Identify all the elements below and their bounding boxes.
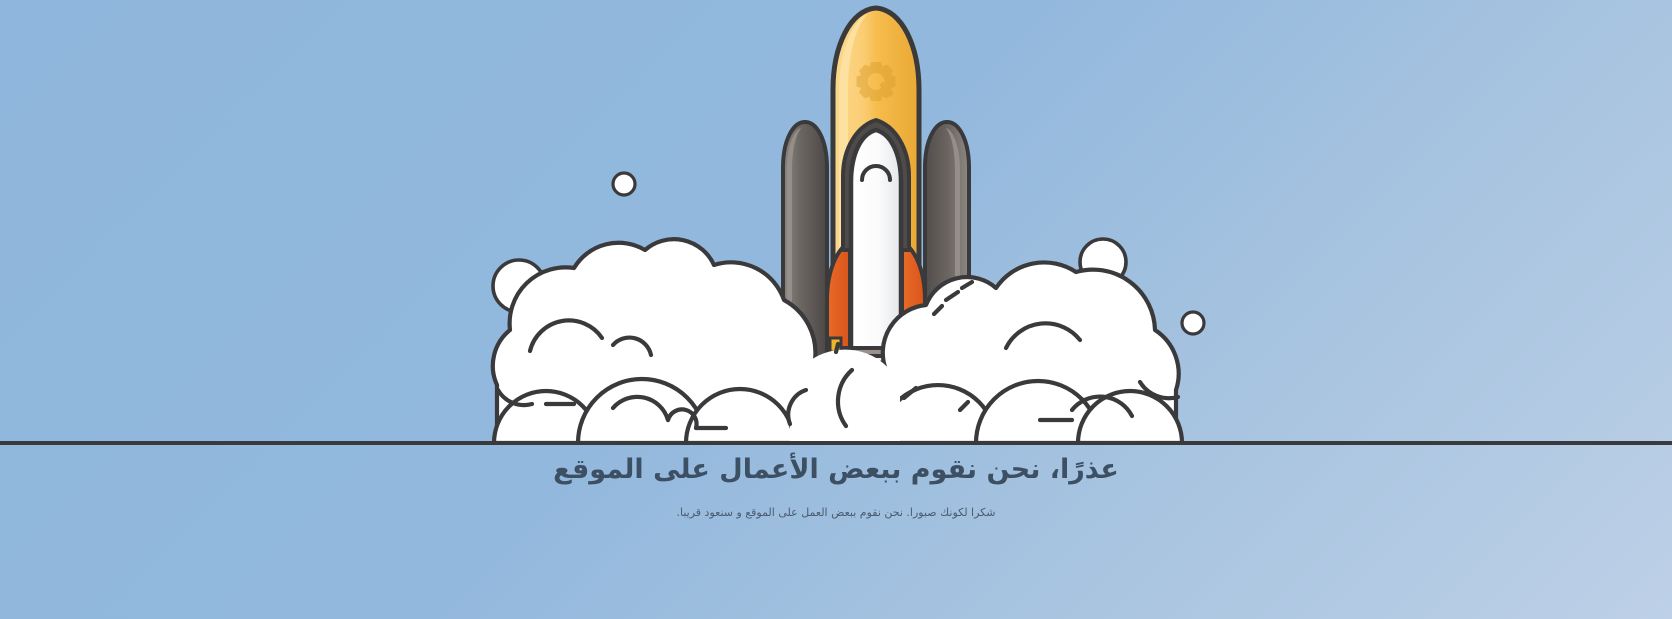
maintenance-message-block: عذرًا، نحن نقوم ببعض الأعمال على الموقع …	[0, 452, 1672, 521]
horizon-line	[0, 441, 1672, 445]
rocket-launch-illustration	[0, 0, 1672, 460]
page-title: عذرًا، نحن نقوم ببعض الأعمال على الموقع	[0, 452, 1672, 488]
page-subtitle: شكرا لكونك صبورا. نحن نقوم ببعض العمل عل…	[0, 505, 1672, 521]
maintenance-page: عذرًا، نحن نقوم ببعض الأعمال على الموقع …	[0, 0, 1672, 619]
gear-wrench-icon	[857, 62, 896, 101]
